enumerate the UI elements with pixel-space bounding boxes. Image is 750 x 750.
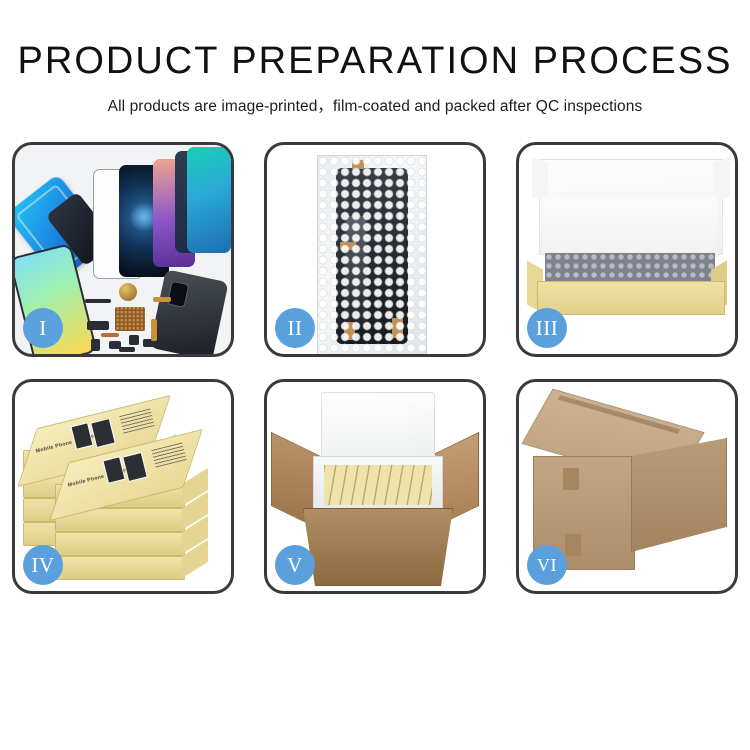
- sim-tray-part: [91, 339, 100, 351]
- phone-teal: [187, 147, 231, 253]
- foam-box-lid: [321, 392, 435, 466]
- foam-box-base: [313, 456, 443, 516]
- flex-cable-part: [85, 299, 111, 303]
- step-badge-6: VI: [527, 545, 567, 585]
- step-panel-5[interactable]: V: [264, 379, 486, 594]
- process-grid: I II: [0, 142, 750, 616]
- carton-side-face: [631, 438, 727, 552]
- step-badge-4: IV: [23, 545, 63, 585]
- spare-parts-cluster: [85, 285, 181, 355]
- step-panel-2[interactable]: II: [264, 142, 486, 357]
- carton-body-open: [303, 508, 453, 586]
- step-badge-2: II: [275, 308, 315, 348]
- process-row-top: I II: [0, 142, 750, 357]
- gold-connector-part: [153, 297, 171, 302]
- box-front-panel: [537, 281, 725, 315]
- step-panel-4[interactable]: Mobile Phone Spare Parts Mobile Phone Sp…: [12, 379, 234, 594]
- page-subtitle: All products are image-printed，film-coat…: [0, 94, 750, 116]
- process-row-bottom: Mobile Phone Spare Parts Mobile Phone Sp…: [0, 379, 750, 594]
- speaker-part: [119, 283, 137, 301]
- page-header: PRODUCT PREPARATION PROCESS All products…: [0, 0, 750, 116]
- camera-module-part: [87, 321, 109, 330]
- carton-tab-lower: [565, 534, 581, 556]
- step-badge-5: V: [275, 545, 315, 585]
- vibrator-part: [129, 335, 139, 345]
- packed-boxes-inside: [324, 465, 432, 505]
- flex-gold-part: [151, 319, 157, 341]
- carton-tab-upper: [563, 468, 579, 490]
- wrapped-items-row: [545, 253, 715, 283]
- foam-sheet: [543, 197, 717, 257]
- copper-strip-part: [101, 333, 119, 337]
- screw-set-part: [119, 347, 135, 352]
- logic-board-part: [115, 307, 145, 331]
- step-panel-3[interactable]: III: [516, 142, 738, 357]
- step-panel-1[interactable]: I: [12, 142, 234, 357]
- bubble-wrap-bag: [317, 155, 427, 355]
- step-badge-3: III: [527, 308, 567, 348]
- bubble-texture: [318, 156, 426, 354]
- step-panel-6[interactable]: VI: [516, 379, 738, 594]
- step-badge-1: I: [23, 308, 63, 348]
- page-title: PRODUCT PREPARATION PROCESS: [0, 42, 750, 80]
